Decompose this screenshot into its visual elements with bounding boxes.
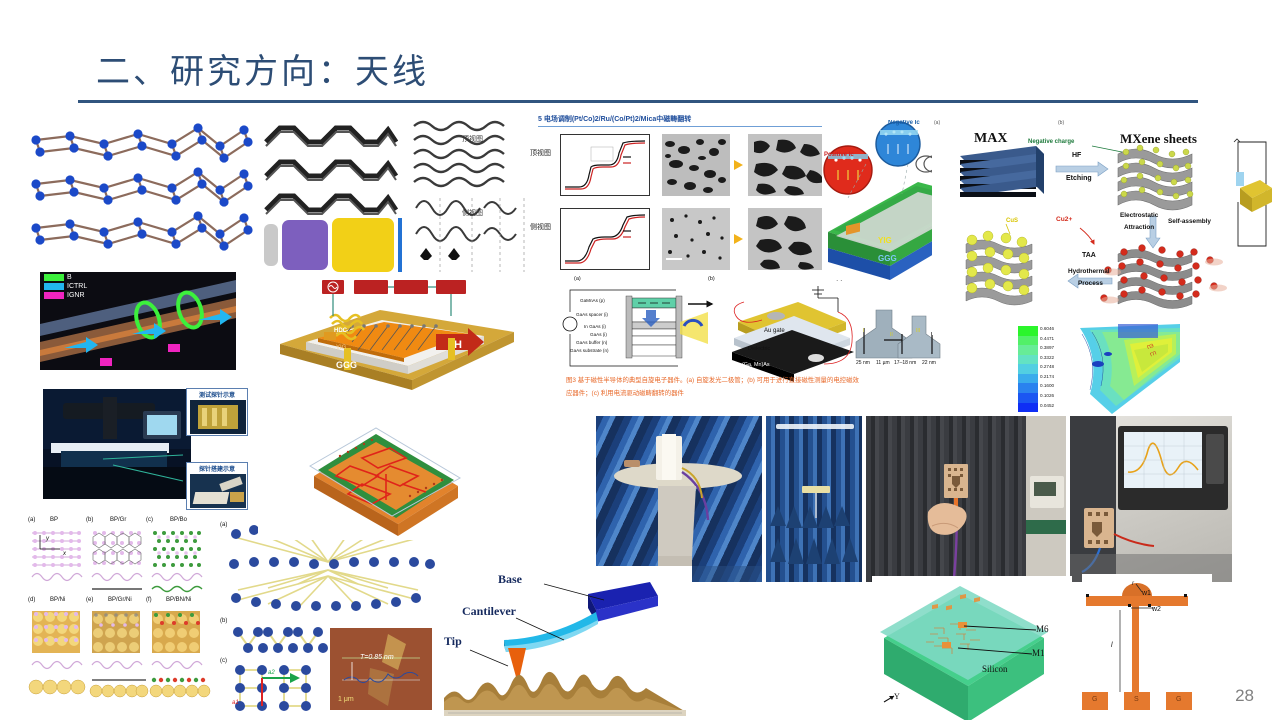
figure-spintronic-devices: (a) (b) (c) [560,274,946,406]
gate-label-dielectric: Dielectric [748,346,770,352]
mos2-thickness-label: T=0.85 nm [360,654,394,661]
metamaterial-svg [262,112,534,277]
contour-value-5: 0.2174 [1040,374,1068,384]
mos2-vector-a2: a2 [268,670,275,676]
bp-panel-label-e: BP/Gr/Ni [108,597,132,603]
onchip-r-label: r [1132,581,1134,587]
metamaterial-view-side: 侧视图 [462,208,483,218]
photo-onbody-overlay [866,416,1066,582]
domain-tag-1: I [863,328,864,334]
domain-tag-3: III [916,328,920,334]
contour-value-3: 0.3322 [1040,355,1068,365]
silicon-axis-y-label: Y [894,692,900,701]
afm-svg [436,566,692,718]
gnr-legend: B ICTRL IGNR [44,274,87,299]
figure-probe-station [42,388,192,500]
magnetic-panel-rule [538,126,828,127]
hysteresis-chart-a [560,134,650,196]
mxene-attraction-label: Attraction [1124,224,1154,231]
page-number: 28 [1235,686,1254,706]
figure-pcb-antenna-model [258,400,474,540]
figure-onchip-antenna: w1 w2 l r G S G [1082,574,1212,720]
bp-axis-x: x [63,551,66,557]
bp-panel-tag-d: (d) [28,597,35,603]
mfm-image-3 [662,208,730,270]
mxene-self-assembly-label: Self-assembly [1168,218,1211,225]
afm-cantilever-label: Cantilever [462,604,516,619]
photo-vna-overlay [1070,416,1232,582]
gate-label-gamnas: (Ga, Mn)As [742,362,770,368]
title-underline [78,100,1198,103]
spinhall-negative-label: Negative Ic [888,120,920,126]
mfm-image-2 [748,134,828,196]
photo-chamber-overlay [766,416,862,582]
spintronic-caption-line2: 应器件；(c) 利用电流驱动磁畴翻转的器件 [566,388,684,397]
domain-dim-4: 22 nm [922,360,936,366]
silicon-m1-label: M1 [1032,648,1045,658]
figure-metamaterial-lattices: 顶视图 侧视图 [262,112,534,277]
mxene-cus-label: CuS [1006,218,1018,224]
domain-tag-2: II [890,332,893,338]
onchip-pad-s: S [1134,696,1139,703]
yig-film-label: YIG [336,345,346,351]
spinhall-yig-label: YIG [878,236,892,245]
figure-bp-heterostructures: (a) BP (b) BP/Gr (c) BP/Bo [28,515,216,715]
afm-tip-label: Tip [444,634,462,649]
legend-swatch-ignr [44,292,64,299]
stack-label-gamnas: GaMnAs (p) [580,298,605,303]
spinhall-ggg-label: GGG [878,254,897,263]
domain-dim-3: 17–18 nm [894,360,916,366]
domain-dim-1: 25 nm [856,360,870,366]
mxene-hf-label: HF [1072,152,1081,159]
metamaterial-view-top: 顶视图 [462,134,483,144]
afm-base-label: Base [498,572,522,587]
contour-value-0: 0.6046 [1040,326,1068,336]
gate-circuit-svg [1232,136,1280,254]
stack-label-gaas-spacer: GaAs spacer (i) [576,312,608,317]
callout-probe-setup-label: 探针搭建示意 [187,463,247,473]
yig-device-svg: H [262,272,516,398]
contour-colorbar [1018,326,1038,412]
slide-root: 二、研究方向：天线 28 [0,0,1280,720]
legend-label-b: B [67,274,72,281]
figure-silicon-die: M6 M1 Silicon Y [872,576,1072,720]
legend-label-ignr: IGNR [67,292,85,299]
spintronic-caption-line1: 图3 基于磁性半导体的典型自旋电子器件。(a) 自旋发光二极管；(b) 可用于进… [566,375,859,384]
figure-contour-simulation: 0.6046 0.4471 0.3897 0.3322 0.2748 0.217… [1014,322,1182,418]
magnetic-row-label-side: 侧视图 [530,222,551,232]
callout-probe-test: 测试探针示意 [186,388,248,436]
callout-probe-test-label: 测试探针示意 [187,389,247,399]
stack-label-ingaas: In GaAs (i) [584,324,606,329]
figure-mxene-synthesis: (a) (b) [932,120,1232,335]
contour-plot-svg: ПЗГП [1072,324,1180,416]
contour-value-6: 0.1600 [1040,383,1068,393]
legend-swatch-b [44,274,64,281]
yig-hdc-label: HDC [334,328,347,334]
contour-value-1: 0.4471 [1040,336,1068,346]
mxene-etching-label: Etching [1066,175,1092,182]
bp-axis-y: y [46,536,49,542]
mxene-taa-label: TAA [1082,252,1096,259]
figure-gate-circuit [1232,136,1280,254]
stack-label-gaas-buffer: GaAs buffer (n) [576,340,607,345]
legend-swatch-ictrl [44,283,64,290]
contour-value-4: 0.2748 [1040,364,1068,374]
bp-panel-label-f: BP/BN/Ni [166,597,191,603]
bp-panel-tag-e: (e) [86,597,93,603]
svg-text:H: H [454,339,462,351]
figure-graphene-nanoribbon: B ICTRL IGNR [40,272,236,370]
onchip-l-label: l [1111,642,1113,649]
bp-panel-label-d: BP/Ni [50,597,65,603]
stack-label-gaas: GaAs (i) [590,332,607,337]
onchip-pad-g2: G [1176,696,1181,703]
contour-value-8: 0.0452 [1040,403,1068,413]
mxene-negative-charge-label: Negative charge [1028,139,1074,145]
figure-magnetic-domain-panel: 5 电场调制(Pt/Co)2/Ru/(Co/Pt)2/Mica中磁畴翻转 顶视图… [530,112,860,272]
hysteresis-a-svg [561,135,649,195]
contour-value-2: 0.3897 [1040,345,1068,355]
probe-station-photo [43,389,191,499]
silicon-substrate-label: Silicon [982,664,1008,674]
bp-hetero-svg [28,515,216,715]
mxene-hydrothermal-label: Hydrothermal [1068,268,1110,275]
magnetic-panel-title: 5 电场调制(Pt/Co)2/Ru/(Co/Pt)2/Mica中磁畴翻转 [538,114,691,124]
onchip-pad-g1: G [1092,696,1097,703]
mos2-vector-a1: a1 [232,700,239,706]
hysteresis-chart-b [560,208,650,270]
contour-value-7: 0.1026 [1040,393,1068,403]
yig-ggg-label: GGG [336,360,357,370]
mfm-image-4 [748,208,828,270]
stack-label-gaas-substrate: GaAs substrate (n) [570,348,609,353]
onchip-w2-label: w2 [1152,606,1161,613]
callout-probe-setup: 探针搭建示意 [186,462,248,510]
bp-panel-tag-f: (f) [146,597,152,603]
gate-label-au: Au gate [764,328,785,334]
mxene-sheets-label: MXene sheets [1120,131,1197,147]
magnetic-row-label-top: 顶视图 [530,148,551,158]
photo-mast-overlay [596,416,762,582]
mxene-max-label: MAX [974,131,1007,147]
mxene-svg [932,120,1232,335]
domain-dim-2: 11 µm [876,360,890,366]
mxene-electrostatic-label: Electrostatic [1120,212,1158,219]
mxene-process-label: Process [1078,280,1103,287]
mos2-scalebar-label: 1 μm [338,696,354,703]
mxene-cu-ion-label: Cu2+ [1056,216,1072,223]
figure-afm-cantilever: Base Cantilever Tip [436,566,692,718]
legend-label-ictrl: ICTRL [67,283,87,290]
contour-legend-values: 0.6046 0.4471 0.3897 0.3322 0.2748 0.217… [1040,326,1068,412]
mfm-arrow-2-icon [734,234,743,244]
pcb-antenna-svg [258,400,474,540]
silicon-m6-label: M6 [1036,624,1049,634]
page-title: 二、研究方向：天线 [96,44,429,93]
onchip-w1-label: w1 [1142,590,1151,597]
figure-mos2-lattice: (a) (b) (c) [218,518,440,716]
mfm-image-1 [662,134,730,196]
hysteresis-b-svg [561,209,649,269]
spinhall-positive-label: Positive Ic [824,152,854,158]
figure-yig-spinwave-device: H GGG YIG HDC [262,272,516,398]
figure-bp-layer-stack [30,112,266,272]
bp-layer-svg [30,112,266,272]
mfm-arrow-1-icon [734,160,743,170]
mos2-svg [218,518,440,716]
